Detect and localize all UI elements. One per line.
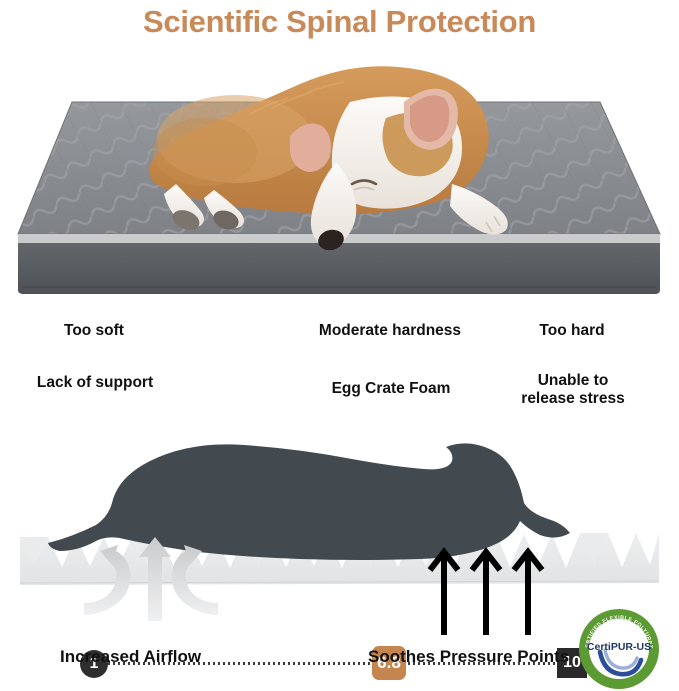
scale-label-egg-crate-foam: Egg Crate Foam	[312, 380, 470, 398]
product-photo	[0, 44, 679, 294]
page-title: Scientific Spinal Protection	[143, 4, 536, 40]
certipur-us-badge: CONTAINS CERTIFIED FLEXIBLE POLYURETHANE…	[578, 608, 660, 690]
scale-label-lack-of-support: Lack of support	[14, 374, 176, 392]
badge-center-text: CertiPUR-US	[587, 641, 651, 653]
scale-label-too-hard: Too hard	[515, 322, 629, 340]
bed-side-panel	[18, 243, 660, 294]
scale-label-unable-to-release-stress: Unable to release stress	[512, 372, 634, 408]
scale-label-too-soft: Too soft	[34, 322, 154, 340]
hardness-scale: Too soft 1 Lack of support Moderate hard…	[0, 308, 679, 418]
release-stress-line: release stress	[512, 390, 634, 408]
scale-label-moderate-hardness: Moderate hardness	[307, 322, 473, 340]
label-increased-airflow: Increased Airflow	[60, 647, 201, 667]
label-soothes-pressure-points: Soothes Pressure Points	[368, 647, 569, 667]
unable-to-line: Unable to	[512, 372, 634, 390]
page-title-bar: Scientific Spinal Protection	[0, 0, 679, 44]
